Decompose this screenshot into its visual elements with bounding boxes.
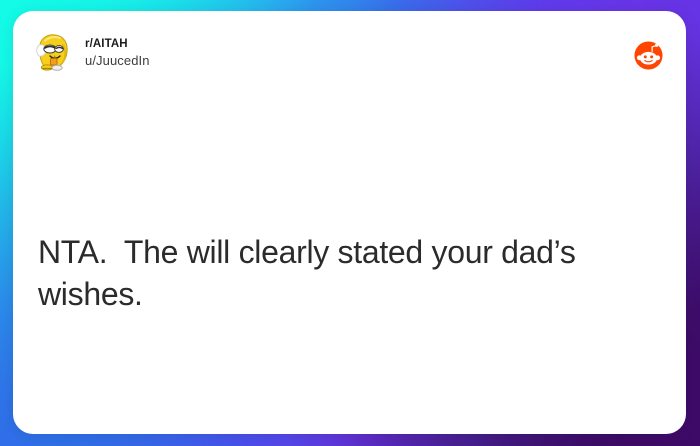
reddit-logo-icon[interactable] (634, 41, 663, 70)
reddit-snoo-banana-avatar-icon[interactable] (30, 31, 74, 75)
username[interactable]: u/JuucedIn (85, 54, 150, 67)
post-paragraph-1: NTA. The will clearly stated your dad’s … (38, 232, 658, 315)
post-header: r/AITAH u/JuucedIn (30, 31, 150, 75)
post-paragraph-2: You owe the others nothing. (38, 433, 658, 434)
post-author-meta: r/AITAH u/JuucedIn (85, 39, 150, 68)
gradient-backdrop: r/AITAH u/JuucedIn (0, 0, 700, 446)
post-body: NTA. The will clearly stated your dad’s … (38, 149, 658, 434)
subreddit-name[interactable]: r/AITAH (85, 39, 150, 51)
reddit-post-card: r/AITAH u/JuucedIn (13, 11, 686, 434)
